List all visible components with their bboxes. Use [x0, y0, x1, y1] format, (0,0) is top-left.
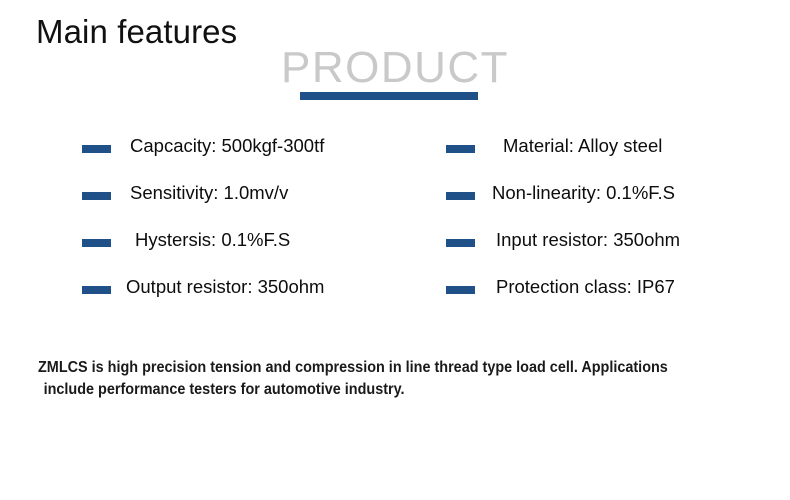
bullet-dash-icon — [82, 286, 111, 294]
feature-label: Output resistor: 350ohm — [126, 278, 324, 297]
list-item: Non-linearity: 0.1%F.S — [446, 183, 776, 230]
feature-label: Sensitivity: 1.0mv/v — [130, 184, 288, 203]
description-line-1: ZMLCS is high precision tension and comp… — [38, 359, 668, 376]
list-item: Material: Alloy steel — [446, 136, 776, 183]
list-item: Sensitivity: 1.0mv/v — [82, 183, 442, 230]
bullet-dash-icon — [446, 192, 475, 200]
bullet-dash-icon — [446, 286, 475, 294]
description-line-2: include performance testers for automoti… — [38, 379, 704, 401]
features-left-column: Capcacity: 500kgf-300tf Sensitivity: 1.0… — [82, 136, 442, 324]
feature-label: Material: Alloy steel — [503, 137, 662, 156]
feature-label: Hystersis: 0.1%F.S — [135, 231, 290, 250]
watermark-product-text: PRODUCT — [281, 44, 509, 92]
bullet-dash-icon — [446, 145, 475, 153]
watermark-underline-bar — [300, 92, 478, 100]
bullet-dash-icon — [82, 192, 111, 200]
list-item: Hystersis: 0.1%F.S — [82, 230, 442, 277]
list-item: Input resistor: 350ohm — [446, 230, 776, 277]
features-right-column: Material: Alloy steel Non-linearity: 0.1… — [446, 136, 776, 324]
list-item: Output resistor: 350ohm — [82, 277, 442, 324]
feature-label: Non-linearity: 0.1%F.S — [492, 184, 675, 203]
list-item: Capcacity: 500kgf-300tf — [82, 136, 442, 183]
list-item: Protection class: IP67 — [446, 277, 776, 324]
feature-label: Capcacity: 500kgf-300tf — [130, 137, 324, 156]
slide-canvas: Main features PRODUCT Capcacity: 500kgf-… — [0, 0, 790, 500]
feature-label: Protection class: IP67 — [496, 278, 675, 297]
description-paragraph: ZMLCS is high precision tension and comp… — [38, 357, 704, 402]
bullet-dash-icon — [82, 145, 111, 153]
features-section: Capcacity: 500kgf-300tf Sensitivity: 1.0… — [0, 136, 790, 316]
feature-label: Input resistor: 350ohm — [496, 231, 680, 250]
page-title: Main features — [36, 12, 237, 52]
bullet-dash-icon — [82, 239, 111, 247]
bullet-dash-icon — [446, 239, 475, 247]
